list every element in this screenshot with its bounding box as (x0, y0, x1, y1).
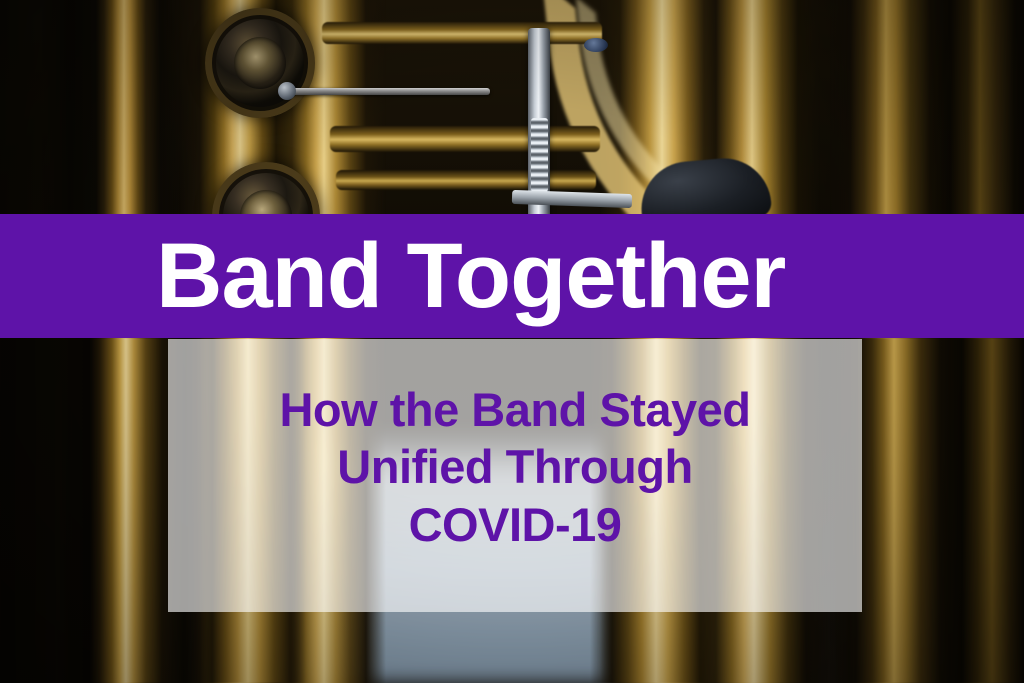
brass-horizontal-tube-2 (330, 126, 600, 152)
subtitle-line-3: COVID-19 (279, 496, 750, 553)
brass-horizontal-tube-1 (322, 22, 602, 44)
subtitle-line-2: Unified Through (279, 438, 750, 495)
valve-linkage-rod (285, 88, 490, 95)
title-band: Band Together (0, 214, 1024, 338)
valve-cap (584, 38, 608, 52)
subtitle-line-1: How the Band Stayed (279, 381, 750, 438)
subtitle-overlay-panel: How the Band Stayed Unified Through COVI… (168, 339, 862, 612)
brass-horizontal-tube-3 (336, 170, 596, 190)
blog-header-graphic: How the Band Stayed Unified Through COVI… (0, 0, 1024, 683)
tuba-valve-disc-upper (205, 8, 315, 118)
subtitle-text: How the Band Stayed Unified Through COVI… (279, 381, 750, 553)
valve-spring (531, 118, 548, 192)
page-title: Band Together (0, 230, 785, 322)
valve-linkage-knob (278, 82, 296, 100)
